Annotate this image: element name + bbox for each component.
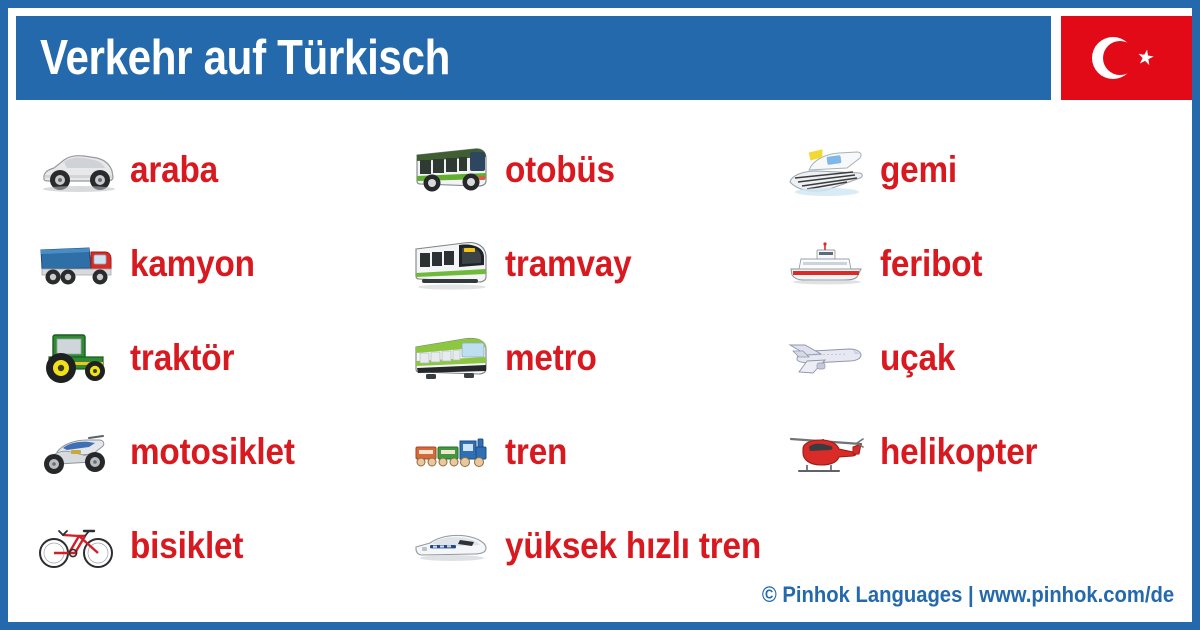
- vocab-word: metro: [505, 339, 597, 376]
- metro-train-icon: [411, 326, 493, 388]
- tractor-icon: [36, 326, 118, 388]
- vocab-item-tramvay: tramvay: [411, 216, 786, 310]
- vocab-item-traktor: traktör: [36, 310, 411, 404]
- vocab-word: helikopter: [880, 433, 1037, 470]
- vocab-item-metro: metro: [411, 310, 786, 404]
- ferry-icon: [786, 232, 868, 294]
- helicopter-icon: [786, 420, 868, 482]
- bullet-train-icon: [411, 514, 493, 576]
- bus-icon: [411, 138, 493, 200]
- vocab-word: tramvay: [505, 245, 631, 282]
- vocab-word: tren: [505, 433, 567, 470]
- motorcycle-icon: [36, 420, 118, 482]
- cruise-ship-icon: [786, 138, 868, 200]
- vocab-word: bisiklet: [130, 527, 243, 564]
- vocab-word: gemi: [880, 151, 957, 188]
- turkish-flag: [1061, 16, 1200, 100]
- vocab-item-kamyon: kamyon: [36, 216, 411, 310]
- vocab-item-ucak: uçak: [786, 310, 1200, 404]
- vocabulary-grid: araba: [16, 108, 1200, 578]
- dump-truck-icon: [36, 232, 118, 294]
- vocab-item-gemi: gemi: [786, 122, 1200, 216]
- vocab-word: yüksek hızlı tren: [505, 527, 761, 564]
- footer-credit[interactable]: © Pinhok Languages | www.pinhok.com/de: [762, 582, 1174, 608]
- vocab-word: kamyon: [130, 245, 255, 282]
- page-title: Verkehr auf Türkisch: [40, 34, 450, 83]
- header-bar: Verkehr auf Türkisch: [16, 16, 1051, 100]
- vocab-item-motosiklet: motosiklet: [36, 404, 411, 498]
- tram-icon: [411, 232, 493, 294]
- vocab-word: traktör: [130, 339, 234, 376]
- vocab-word: uçak: [880, 339, 955, 376]
- vocab-word: feribot: [880, 245, 982, 282]
- vocab-item-feribot: feribot: [786, 216, 1200, 310]
- bicycle-icon: [36, 514, 118, 576]
- vocab-item-tren: tren: [411, 404, 786, 498]
- vocab-word: araba: [130, 151, 218, 188]
- car-icon: [36, 138, 118, 200]
- vocab-item-bisiklet: bisiklet: [36, 498, 411, 592]
- toy-train-icon: [411, 420, 493, 482]
- vocab-item-yuksek-hizli-tren: yüksek hızlı tren: [411, 498, 786, 592]
- airplane-icon: [786, 326, 868, 388]
- vocab-word: motosiklet: [130, 433, 295, 470]
- infographic-page: Verkehr auf Türkisch: [0, 0, 1200, 630]
- vocab-item-araba: araba: [36, 122, 411, 216]
- vocab-item-otobus: otobüs: [411, 122, 786, 216]
- vocab-item-helikopter: helikopter: [786, 404, 1200, 498]
- vocab-word: otobüs: [505, 151, 615, 188]
